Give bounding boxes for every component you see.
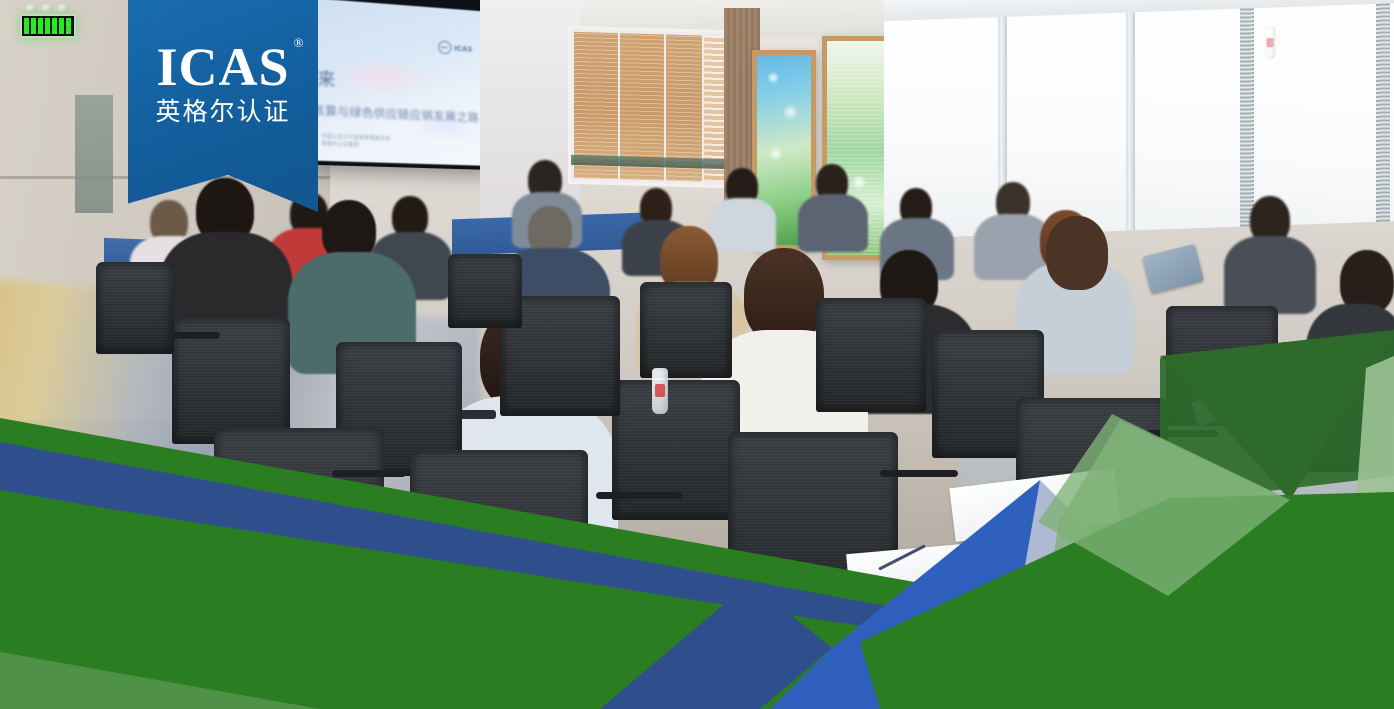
conference-chair [214, 428, 384, 598]
chair-arm [1146, 430, 1218, 437]
chair-arm [596, 492, 682, 499]
chair-arm [332, 470, 406, 477]
bright-window-wall [884, 0, 1394, 239]
conference-chair [448, 254, 522, 328]
person-head [1046, 216, 1108, 290]
slide-footnote: 中国认证认可监督管理委员会 英格尔认证集团 [321, 133, 390, 150]
projection-screen: 来 核算与绿色供应链应销发展之路 中国认证认可监督管理委员会 英格尔认证集团 I… [310, 0, 492, 170]
exit-lamp-mid [41, 4, 52, 13]
slide-logo-text: ICAS [454, 44, 472, 53]
slide-logo-ring-icon [438, 40, 451, 54]
water-bottle [652, 368, 668, 414]
projection-image: 来 核算与绿色供应链应销发展之路 中国认证认可监督管理委员会 英格尔认证集团 I… [313, 0, 491, 166]
event-banner: 来 核算与绿色供应链应销发展之路 中国认证认可监督管理委员会 英格尔认证集团 I… [0, 0, 1394, 709]
water-bottle [1264, 27, 1275, 59]
conference-chair [410, 450, 588, 632]
conference-chair [640, 282, 732, 378]
conference-chair [96, 262, 174, 354]
window-mullion-2 [1126, 0, 1135, 231]
conference-chair [816, 298, 926, 412]
slide-subtitle: 核算与绿色供应链应销发展之路 [313, 102, 480, 126]
window-mullion-3 [1240, 0, 1254, 227]
wall-door-panel [75, 95, 113, 213]
conference-chair [612, 380, 740, 520]
emergency-exit-sign [20, 14, 76, 38]
icas-wordmark: ICAS® [156, 40, 289, 94]
person-body [798, 194, 868, 252]
exit-lamp-right [57, 4, 68, 13]
slide-corner-logo: ICAS [438, 40, 472, 55]
person-body [710, 198, 776, 252]
icas-chinese-name: 英格尔认证 [155, 98, 290, 126]
registered-trademark-icon: ® [294, 36, 305, 49]
icas-wordmark-text: ICAS [156, 37, 289, 97]
slide-title: 来 [317, 64, 336, 91]
window-mullion-4 [1376, 0, 1390, 222]
person-body [1224, 236, 1316, 314]
chair-arm [880, 470, 958, 477]
wooden-window-blinds [568, 26, 730, 189]
exit-lamp-left [25, 4, 36, 13]
